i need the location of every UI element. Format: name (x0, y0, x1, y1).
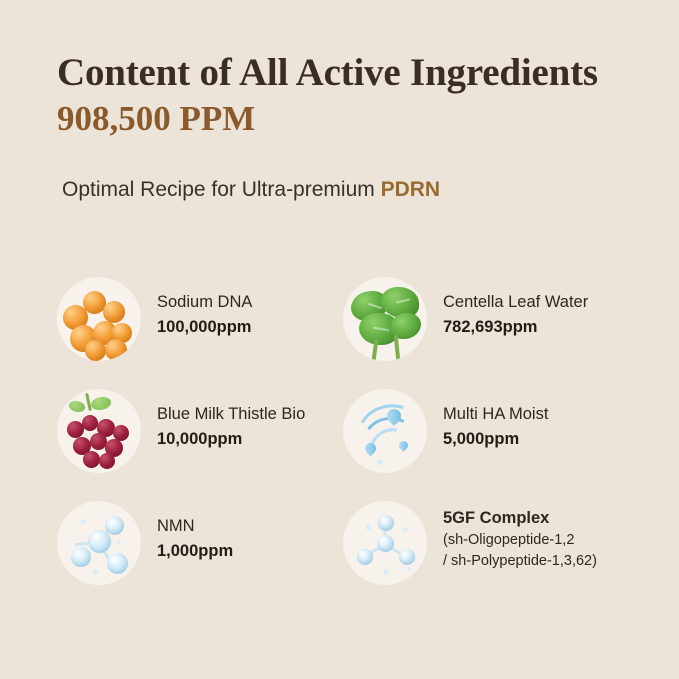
ingredient-amount: 1,000ppm (157, 540, 233, 562)
ingredient-name: Sodium DNA (157, 291, 252, 313)
red-berries-icon (57, 389, 141, 473)
ingredient-grid: Sodium DNA 100,000ppm (57, 275, 629, 611)
ingredient-amount: 100,000ppm (157, 316, 252, 338)
ingredient-name: Blue Milk Thistle Bio (157, 403, 305, 425)
ingredient-sub-line-2: / sh-Polypeptide-1,3,62) (443, 552, 597, 571)
ingredient-item-centella-leaf-water: Centella Leaf Water 782,693ppm (343, 275, 629, 387)
ingredient-infographic: Content of All Active Ingredients 908,50… (0, 0, 679, 679)
ingredient-item-sodium-dna: Sodium DNA 100,000ppm (57, 275, 343, 387)
ingredient-row: Sodium DNA 100,000ppm (57, 275, 629, 387)
ingredient-text: Multi HA Moist 5,000ppm (443, 387, 548, 450)
heading-block: Content of All Active Ingredients 908,50… (57, 50, 637, 140)
ingredient-amount: 10,000ppm (157, 428, 305, 450)
ingredient-text: Sodium DNA 100,000ppm (157, 275, 252, 338)
ingredient-amount: 5,000ppm (443, 428, 548, 450)
ingredient-sub-line-1: (sh-Oligopeptide-1,2 (443, 531, 597, 550)
total-ppm-value: 908,500 PPM (57, 98, 637, 140)
molecule-star-icon (343, 501, 427, 585)
ingredient-name: Multi HA Moist (443, 403, 548, 425)
ingredient-name: NMN (157, 515, 233, 537)
ingredient-text: NMN 1,000ppm (157, 499, 233, 562)
ingredient-name: 5GF Complex (443, 507, 597, 529)
ingredient-text: Blue Milk Thistle Bio 10,000ppm (157, 387, 305, 450)
ingredient-text: 5GF Complex (sh-Oligopeptide-1,2 / sh-Po… (443, 499, 597, 571)
ingredient-text: Centella Leaf Water 782,693ppm (443, 275, 588, 338)
orange-spheres-icon (57, 277, 141, 361)
page-title: Content of All Active Ingredients (57, 50, 637, 96)
ingredient-item-blue-milk-thistle-bio: Blue Milk Thistle Bio 10,000ppm (57, 387, 343, 499)
subtitle: Optimal Recipe for Ultra-premium PDRN (62, 176, 440, 204)
ingredient-name: Centella Leaf Water (443, 291, 588, 313)
ingredient-item-multi-ha-moist: Multi HA Moist 5,000ppm (343, 387, 629, 499)
ingredient-amount: 782,693ppm (443, 316, 588, 338)
green-leaves-icon (343, 277, 427, 361)
molecule-icon (57, 501, 141, 585)
ingredient-item-nmn: NMN 1,000ppm (57, 499, 343, 611)
water-swirl-icon (343, 389, 427, 473)
subtitle-prefix: Optimal Recipe for Ultra-premium (62, 178, 381, 201)
ingredient-row: NMN 1,000ppm (57, 499, 629, 611)
subtitle-accent: PDRN (381, 178, 441, 201)
ingredient-row: Blue Milk Thistle Bio 10,000ppm (57, 387, 629, 499)
ingredient-item-5gf-complex: 5GF Complex (sh-Oligopeptide-1,2 / sh-Po… (343, 499, 629, 611)
